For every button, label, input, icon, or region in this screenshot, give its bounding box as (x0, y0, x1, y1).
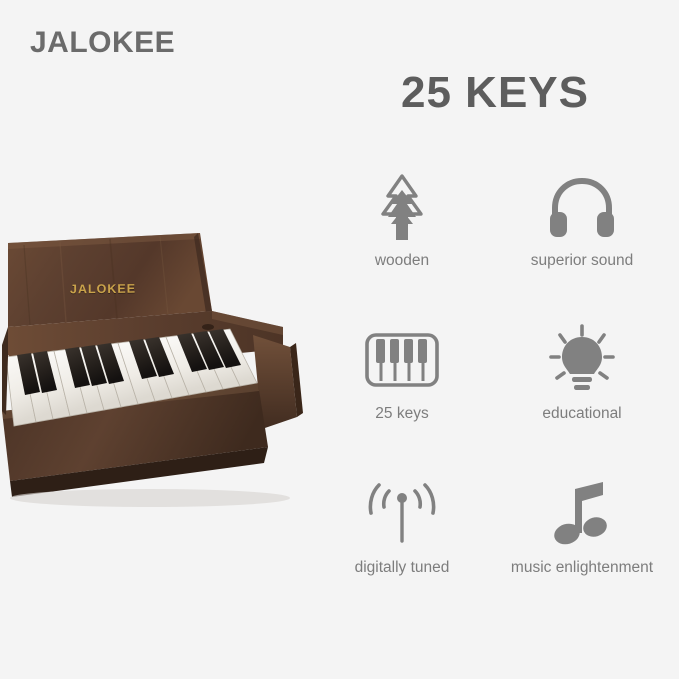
product-infographic: JALOKEE 25 KEYS (0, 0, 679, 679)
feature-label: superior sound (531, 252, 634, 271)
piano-music-stand (8, 233, 212, 327)
feature-25-keys: 25 keys (312, 313, 492, 466)
feature-superior-sound: superior sound (492, 160, 672, 313)
page-title: 25 KEYS (330, 68, 660, 118)
feature-digitally-tuned: digitally tuned (312, 467, 492, 620)
piano-left-endblock (2, 327, 8, 415)
lightbulb-icon (544, 321, 620, 399)
signal-tuner-icon (362, 475, 442, 553)
piano-illustration (0, 215, 312, 515)
feature-label: 25 keys (375, 405, 428, 424)
music-note-icon (551, 475, 613, 553)
product-image: JALOKEE (0, 215, 312, 515)
feature-grid: wooden superior sound (312, 160, 672, 620)
feature-label: digitally tuned (355, 559, 450, 578)
feature-label: wooden (375, 252, 429, 271)
brand-wordmark: JALOKEE (30, 26, 175, 60)
feature-wooden: wooden (312, 160, 492, 313)
feature-music-enlightenment: music enlightenment (492, 467, 672, 620)
feature-educational: educational (492, 313, 672, 466)
headphones-icon (545, 168, 619, 246)
feature-label: educational (542, 405, 621, 424)
tree-icon (369, 168, 435, 246)
piano-keys-icon (364, 321, 440, 399)
feature-label: music enlightenment (511, 559, 653, 578)
product-shadow (10, 489, 290, 507)
